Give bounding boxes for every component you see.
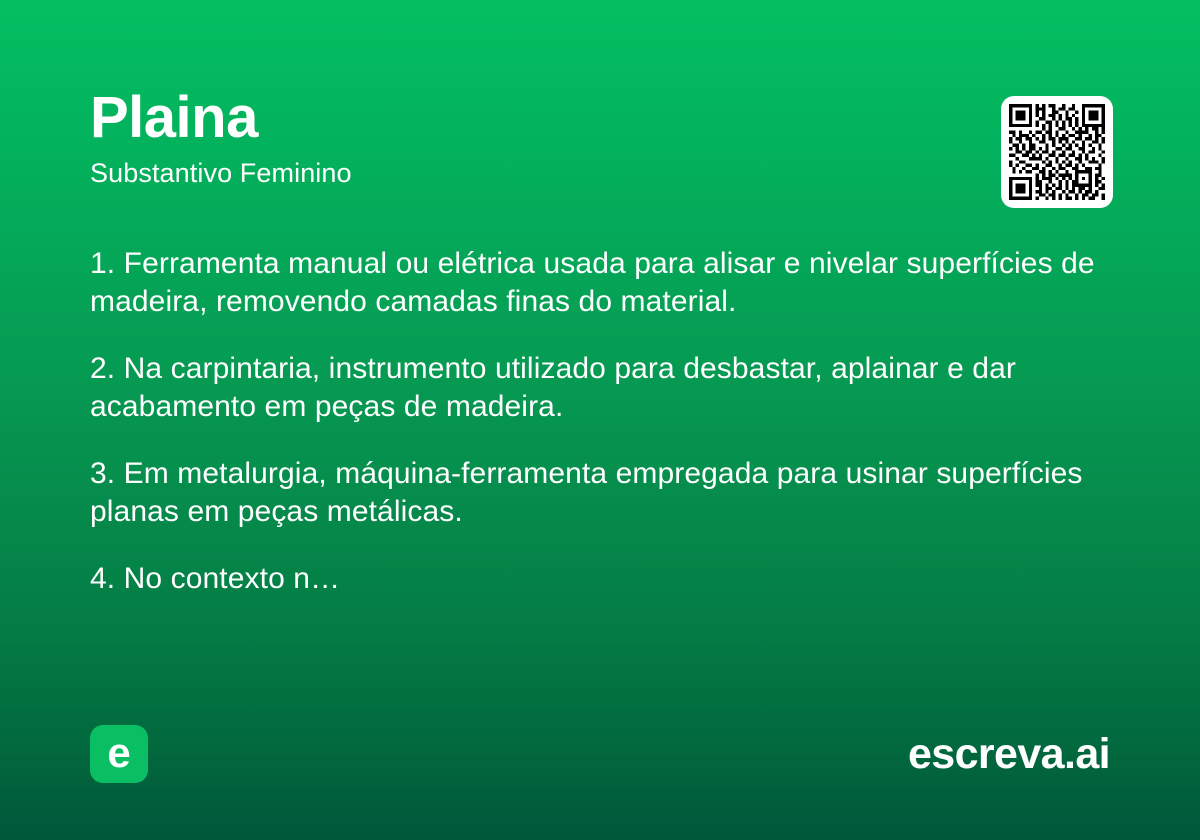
definition-item: 2. Na carpintaria, instrumento utilizado…: [90, 350, 1130, 426]
definition-item: 1. Ferramenta manual ou elétrica usada p…: [90, 245, 1130, 321]
definitions-list: 1. Ferramenta manual ou elétrica usada p…: [90, 245, 1130, 598]
card-header: Plaina Substantivo Feminino: [90, 86, 990, 190]
qr-code-icon: [1009, 104, 1105, 200]
qr-code-card[interactable]: [1001, 96, 1113, 208]
brand-logo-icon[interactable]: e: [90, 725, 148, 783]
definition-item: 4. No contexto n…: [90, 560, 1130, 598]
brand-logo-letter: e: [107, 732, 130, 774]
definition-card: Plaina Substantivo Feminino: [0, 0, 1200, 840]
brand-wordmark: escreva.ai: [908, 731, 1110, 777]
page-title: Plaina: [90, 86, 990, 150]
definition-item: 3. Em metalurgia, máquina-ferramenta emp…: [90, 455, 1130, 531]
card-footer: e escreva.ai: [90, 725, 1110, 783]
word-class-label: Substantivo Feminino: [90, 156, 990, 190]
